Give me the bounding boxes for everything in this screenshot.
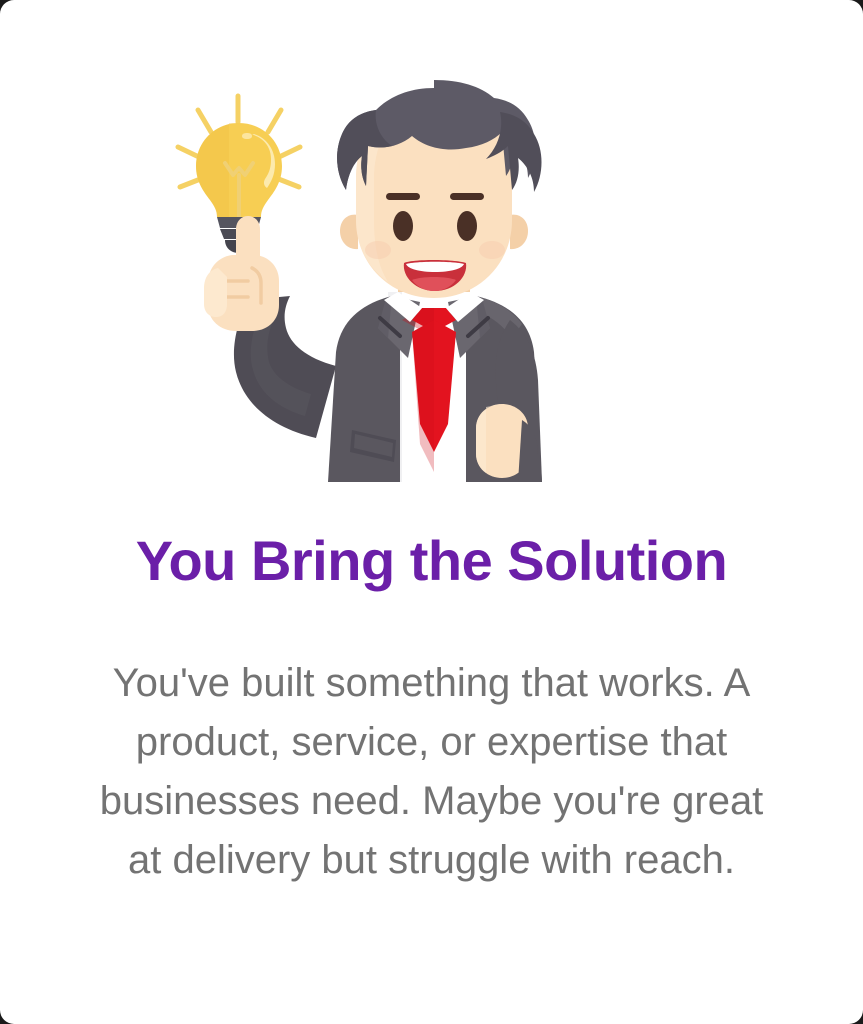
eyebrow-right — [450, 193, 484, 200]
eye-left — [393, 211, 413, 241]
text-block: You Bring the Solution You've built some… — [0, 500, 863, 890]
pointing-hand — [204, 216, 279, 331]
businessman-character — [328, 80, 542, 482]
eyebrow-left — [386, 193, 420, 200]
eye-right — [457, 211, 477, 241]
page-title: You Bring the Solution — [60, 530, 803, 592]
solution-card: You Bring the Solution You've built some… — [0, 0, 863, 1024]
body-paragraph: You've built something that works. A pro… — [87, 654, 777, 891]
businessman-with-lightbulb-illustration — [0, 0, 863, 500]
